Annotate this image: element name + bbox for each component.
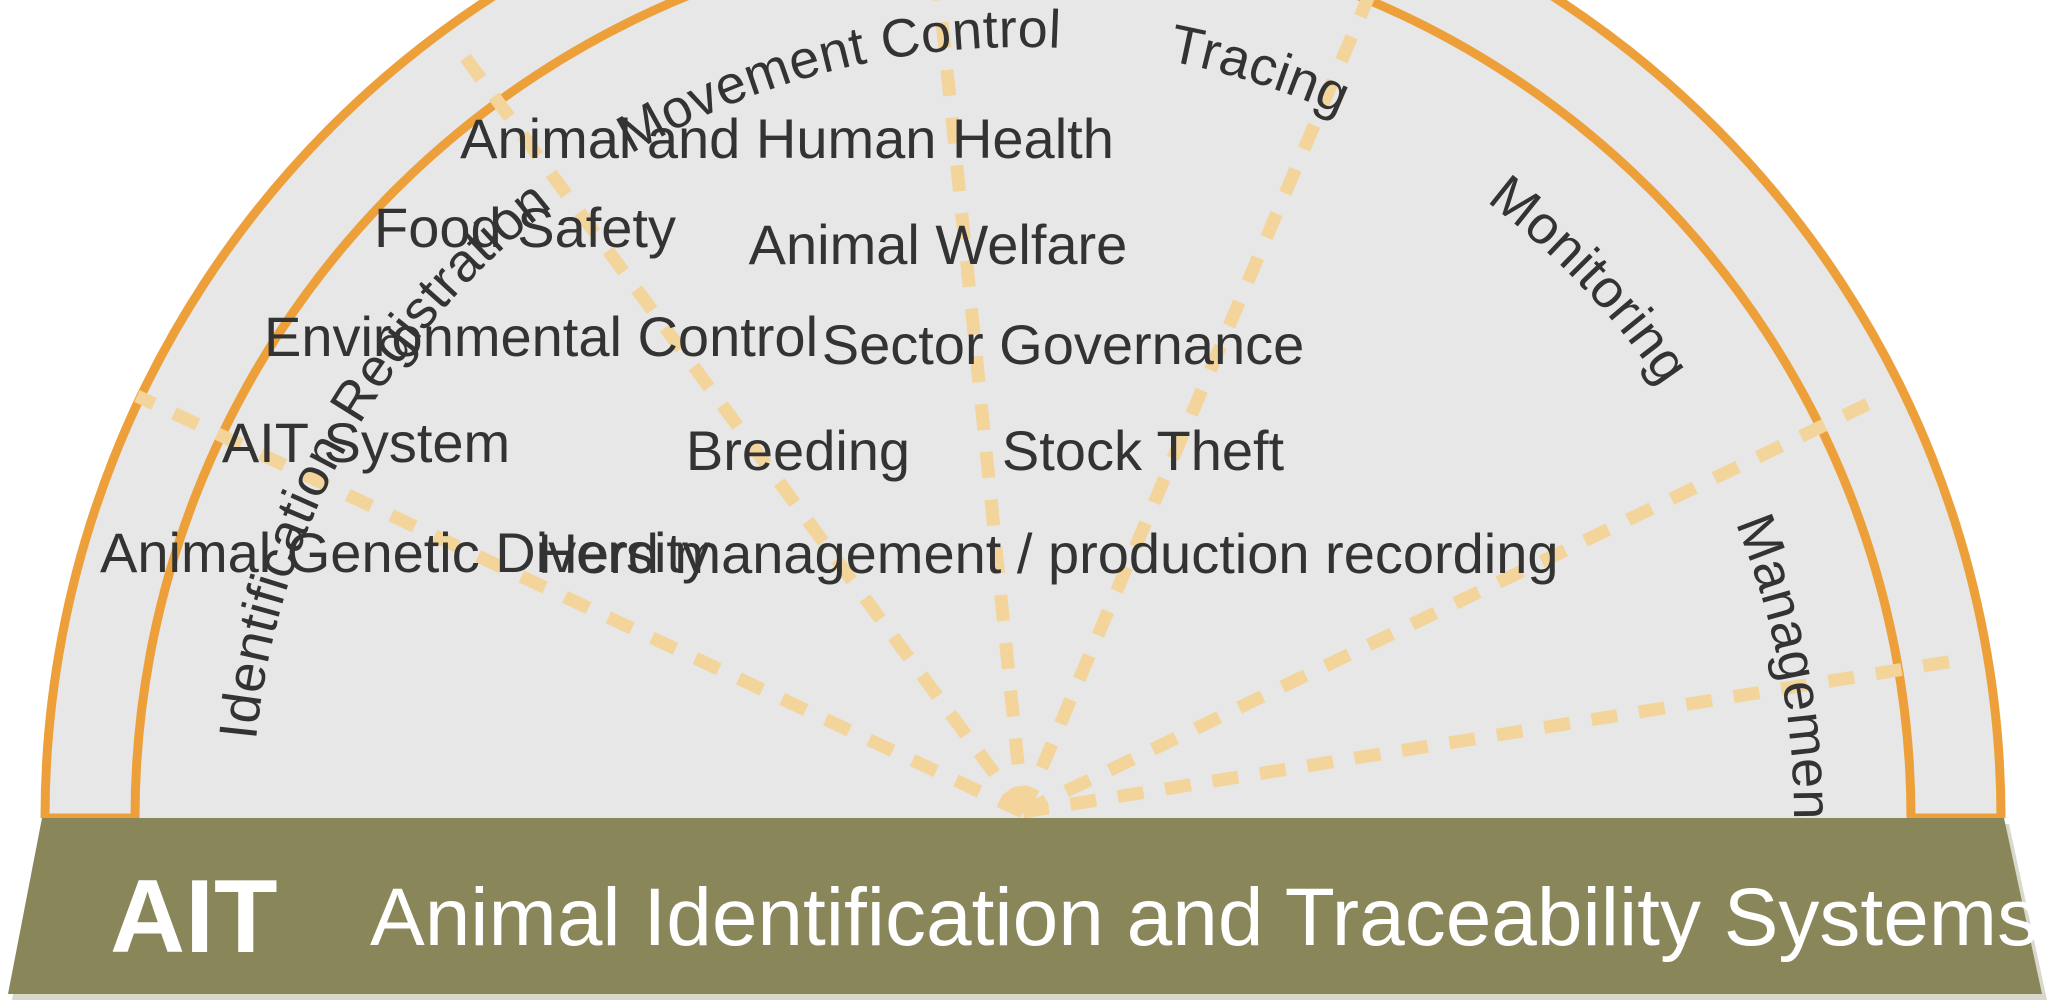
base-bar-title: Animal Identification and Traceability S… [370,872,2038,963]
inner-label-breeding: Breeding [686,419,910,482]
inner-label-animal-welfare: Animal Welfare [749,213,1128,276]
inner-label-stock-theft: Stock Theft [1002,419,1285,482]
inner-label-animal-and-human-health: Animal and Human Health [460,107,1114,170]
inner-label-environmental-control: Environmental Control [264,305,818,368]
inner-label-food-safety: Food Safety [374,196,676,259]
base-bar-abbr: AIT [110,859,278,975]
inner-label-sector-governance: Sector Governance [822,313,1304,376]
inner-label-ait-system: AIT System [222,411,510,474]
diagram-root: Identification Registration Movement Con… [0,0,2048,1006]
inner-label-herd-management: Herd management / production recording [537,522,1558,585]
ait-fan-diagram: Identification Registration Movement Con… [0,0,2048,1006]
